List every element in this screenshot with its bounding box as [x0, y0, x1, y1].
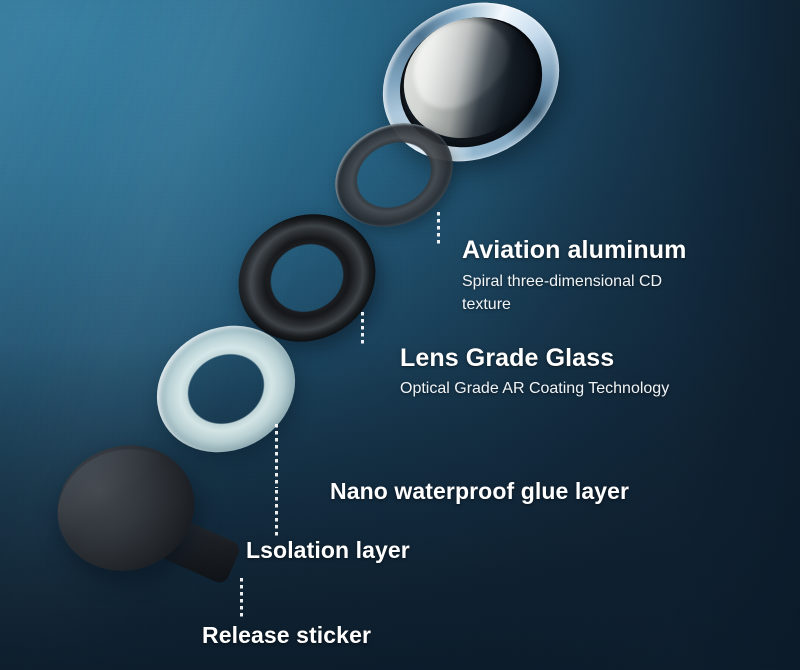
leader-line-release [240, 578, 243, 620]
label-title: Release sticker [202, 622, 371, 649]
label-title: Aviation aluminum [462, 236, 712, 265]
label-isolation-layer: Lsolation layer [246, 537, 410, 564]
leader-line-aluminum [437, 212, 440, 244]
leader-line-glass [361, 312, 364, 346]
leader-line-isolation [275, 490, 278, 536]
label-title: Nano waterproof glue layer [330, 478, 629, 505]
lens-grade-glass-ring [333, 126, 455, 224]
label-aviation-aluminum: Aviation aluminum Spiral three-dimension… [462, 236, 712, 316]
label-title: Lsolation layer [246, 537, 410, 564]
label-nano-waterproof-glue-layer: Nano waterproof glue layer [330, 478, 629, 505]
label-title: Lens Grade Glass [400, 344, 700, 373]
label-subtitle: Spiral three-dimensional CD texture [462, 270, 677, 316]
release-sticker [55, 440, 235, 600]
nano-glue-ring [237, 216, 377, 340]
label-release-sticker: Release sticker [202, 622, 371, 649]
label-lens-grade-glass: Lens Grade Glass Optical Grade AR Coatin… [400, 344, 700, 400]
label-subtitle: Optical Grade AR Coating Technology [400, 378, 700, 400]
leader-line-glue [275, 424, 278, 488]
product-infographic: Aviation aluminum Spiral three-dimension… [0, 0, 800, 670]
